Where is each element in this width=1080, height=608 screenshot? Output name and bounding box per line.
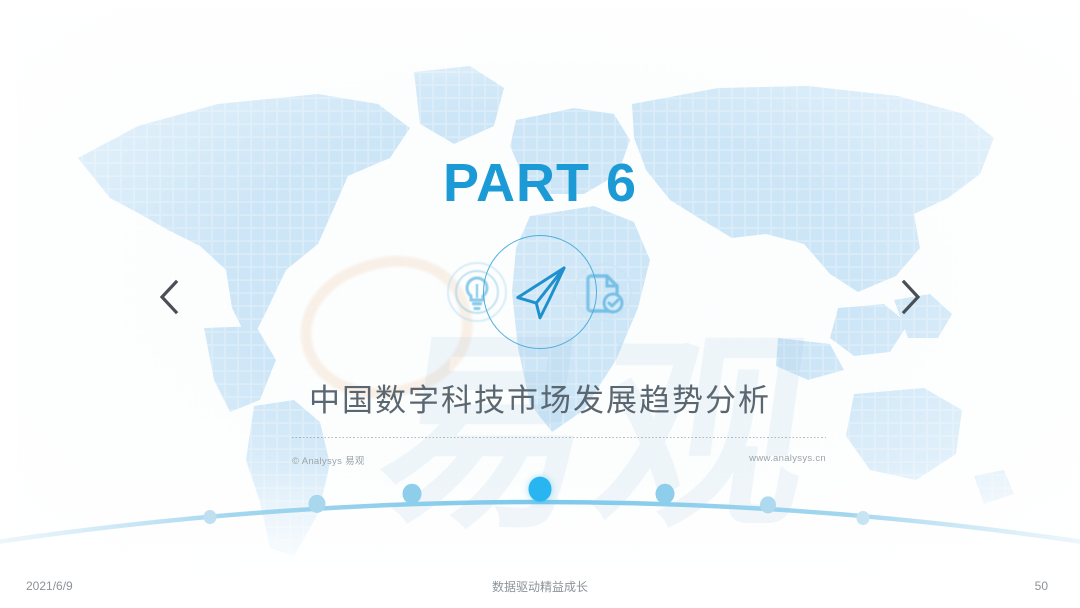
footer-page-number: 50: [1035, 579, 1048, 593]
progress-dot[interactable]: [857, 511, 870, 525]
footer-slogan: 数据驱动精益成长: [0, 578, 1080, 595]
progress-dot[interactable]: [309, 495, 326, 513]
website-text: www.analysys.cn: [749, 453, 826, 464]
progress-dot[interactable]: [204, 510, 217, 524]
next-arrow-icon[interactable]: [888, 272, 932, 322]
footer-bar: 2021/6/9 数据驱动精益成长 50: [0, 564, 1080, 608]
watermark-text: 易观: [367, 330, 829, 540]
copyright-text: © Analysys 易观: [292, 453, 365, 467]
dotted-divider: [292, 437, 826, 438]
prev-arrow-icon[interactable]: [148, 272, 192, 322]
paper-plane-icon: [483, 235, 597, 349]
slide-root: 易观 PART 6: [0, 0, 1080, 608]
part-title: PART 6: [0, 152, 1080, 214]
section-title: 中国数字科技市场发展趋势分析: [0, 375, 1080, 420]
